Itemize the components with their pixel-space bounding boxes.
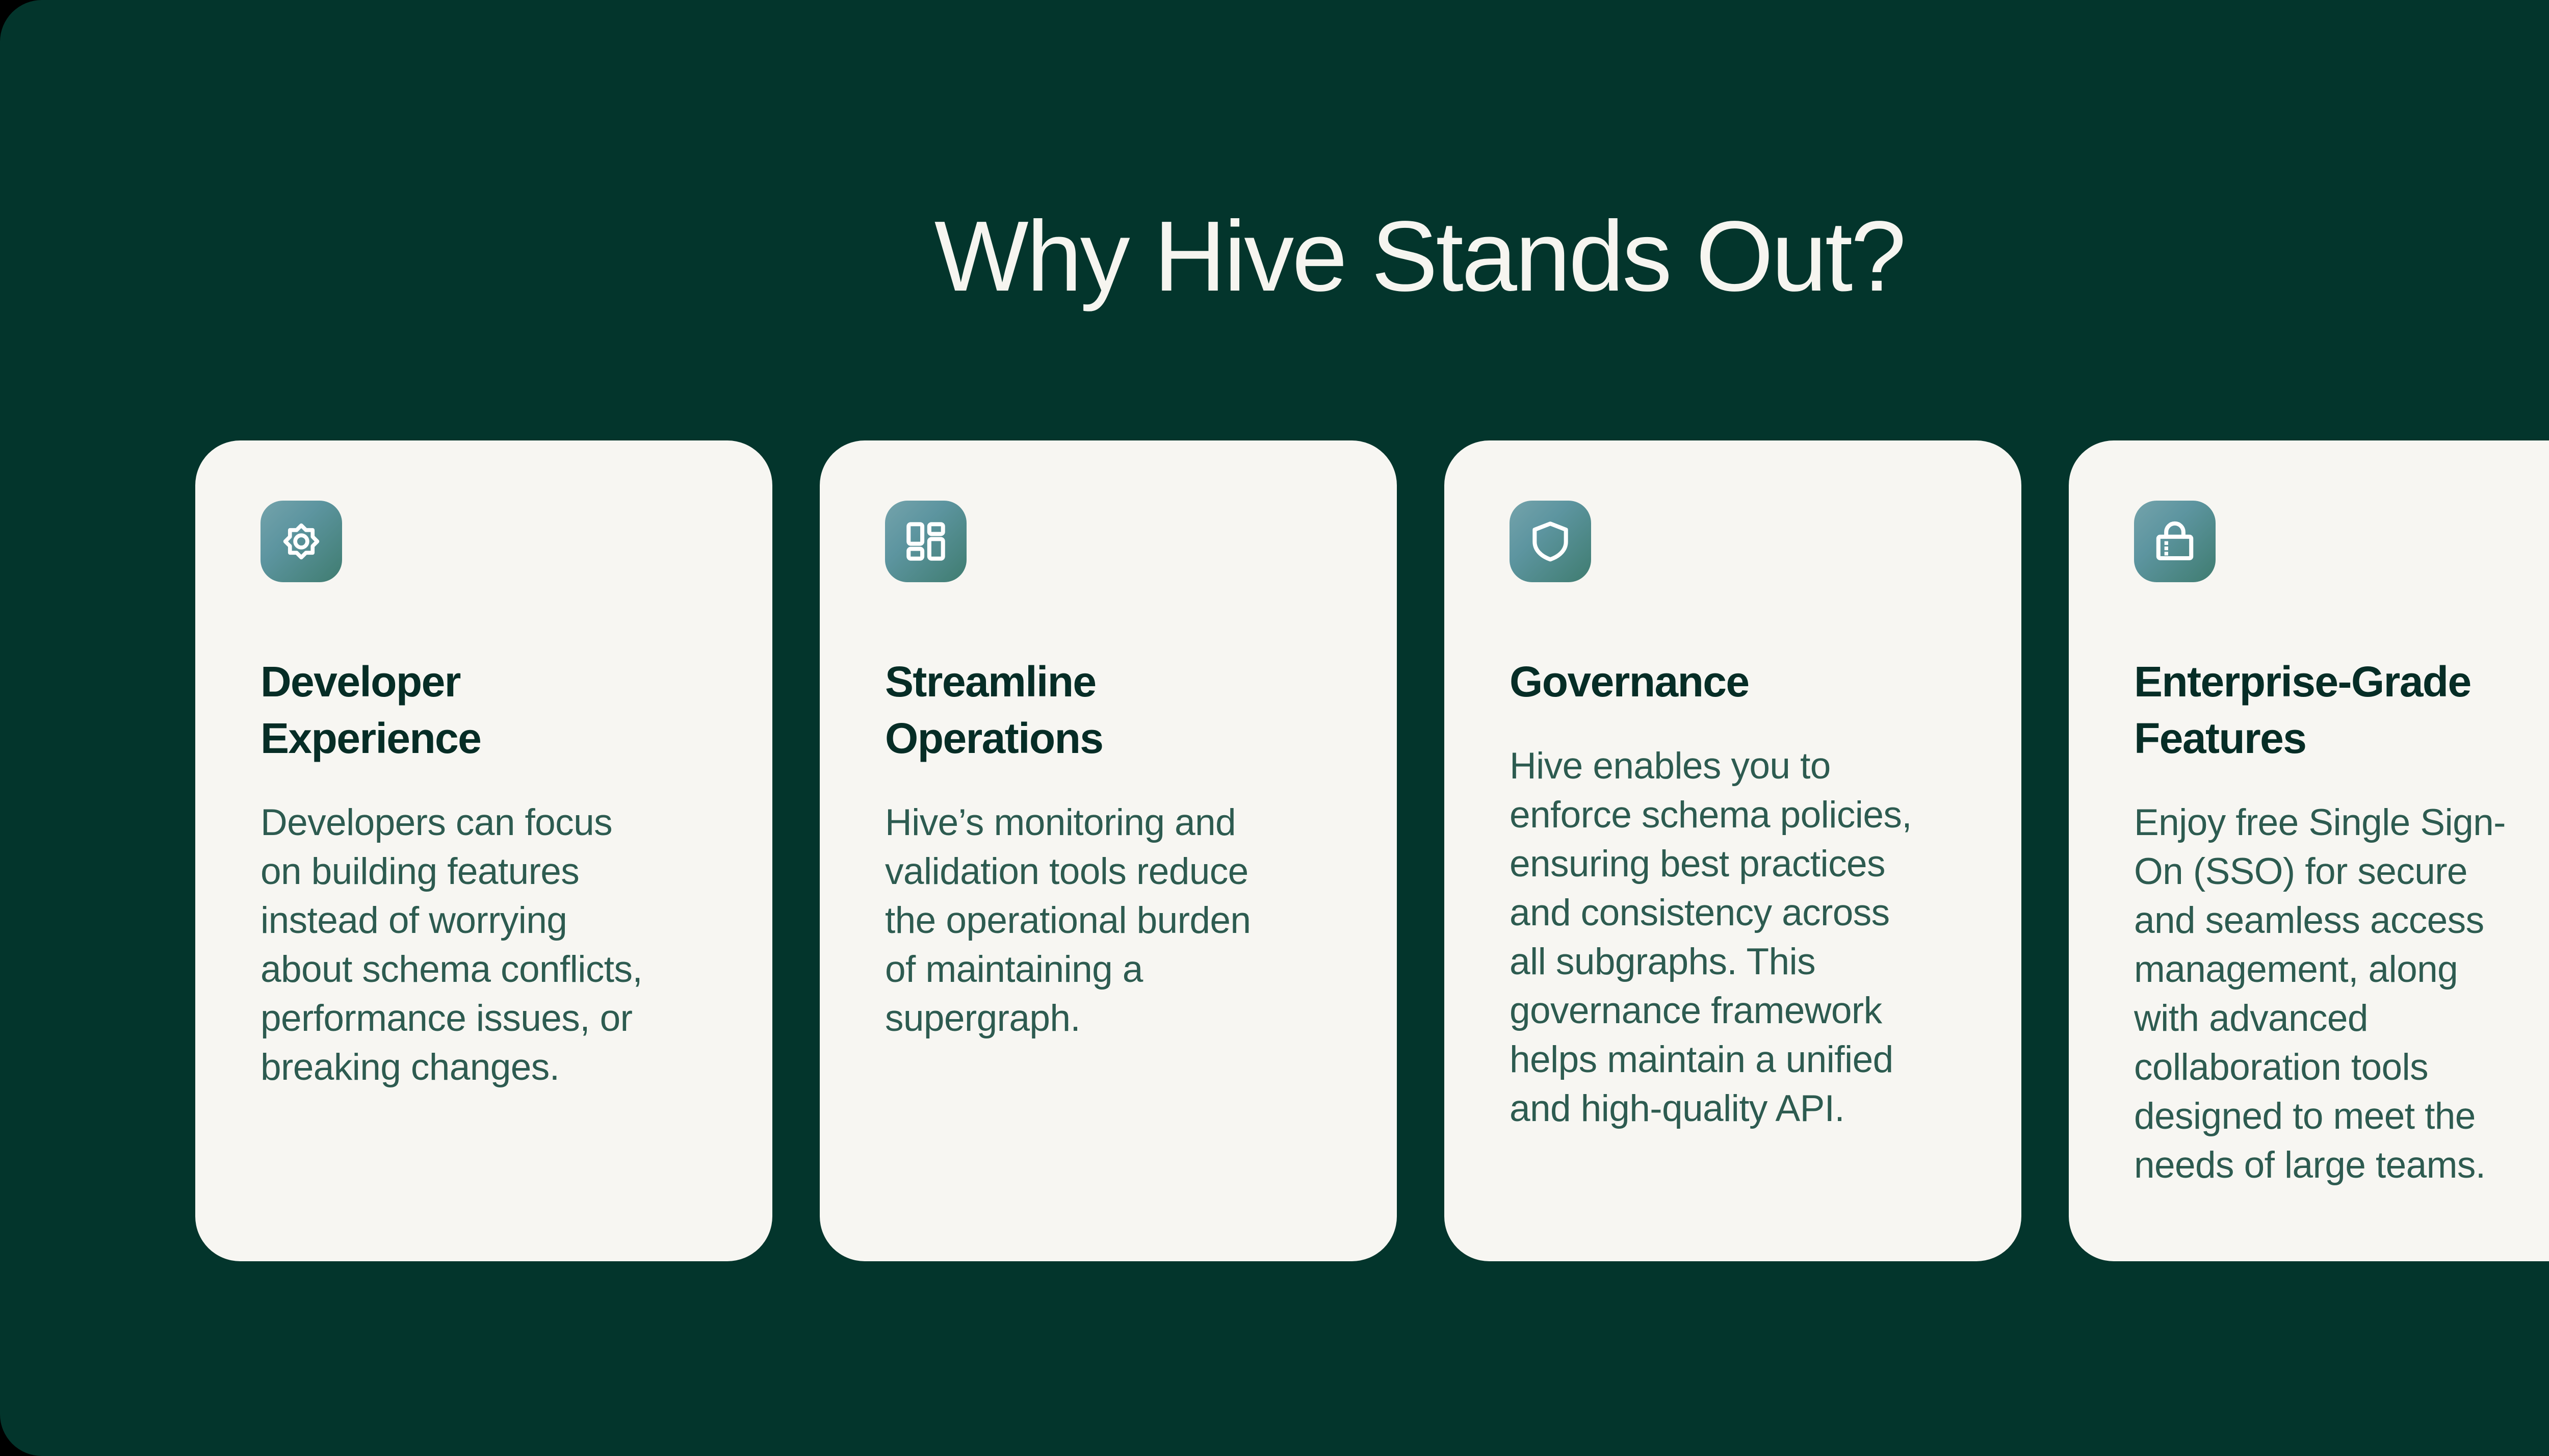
- feature-card-developer-experience[interactable]: Developer Experience Developers can focu…: [195, 440, 772, 1261]
- settings-gear-icon: [261, 501, 342, 582]
- page-title: Why Hive Stands Out?: [0, 199, 2549, 314]
- dashboard-layout-icon: [885, 501, 967, 582]
- page-root: Why Hive Stands Out? Developer Experienc…: [0, 0, 2549, 1456]
- feature-card-governance[interactable]: Governance Hive enables you to enforce s…: [1444, 440, 2021, 1261]
- feature-card-body: Hive enables you to enforce schema polic…: [1510, 742, 1912, 1133]
- feature-card-grid: Developer Experience Developers can focu…: [195, 440, 2549, 1261]
- feature-card-title: Enterprise-Grade Features: [2134, 654, 2491, 767]
- feature-card-body: Enjoy free Single Sign-On (SSO) for secu…: [2134, 798, 2521, 1190]
- feature-card-body: Developers can focus on building feature…: [261, 798, 648, 1092]
- feature-card-streamline-operations[interactable]: Streamline Operations Hive’s monitoring …: [820, 440, 1397, 1261]
- lock-icon: [2134, 501, 2216, 582]
- feature-card-enterprise-grade-features[interactable]: Enterprise-Grade Features Enjoy free Sin…: [2069, 440, 2549, 1261]
- feature-card-title: Streamline Operations: [885, 654, 1171, 767]
- feature-card-title: Developer Experience: [261, 654, 577, 767]
- feature-card-title: Governance: [1510, 654, 1749, 710]
- shield-icon: [1510, 501, 1591, 582]
- feature-card-body: Hive’s monitoring and validation tools r…: [885, 798, 1272, 1043]
